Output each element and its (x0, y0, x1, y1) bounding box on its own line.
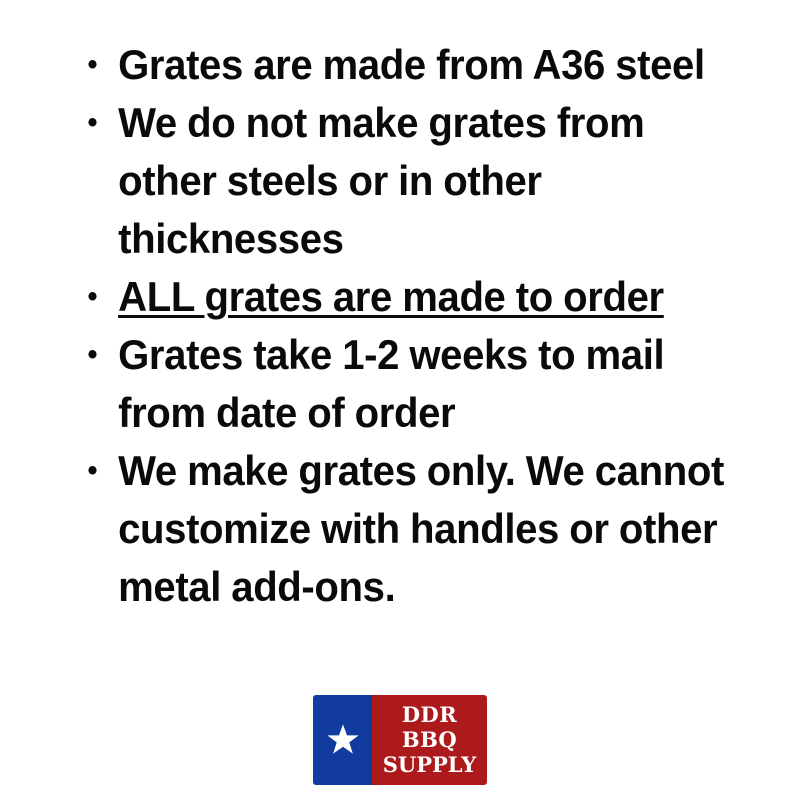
list-item: • Grates are made from A36 steel (78, 36, 727, 94)
bullet-icon: • (88, 442, 101, 500)
list-item: • Grates take 1-2 weeks to mail from dat… (78, 326, 727, 442)
list-item: • We do not make grates from other steel… (78, 94, 727, 268)
bullet-icon: • (88, 268, 101, 326)
policy-bullet-list: • Grates are made from A36 steel • We do… (78, 36, 758, 616)
logo-text-line-1: DDR (402, 702, 457, 727)
logo-text-line-2: BBQ (402, 727, 457, 752)
bullet-icon: • (88, 326, 101, 384)
list-item-text: We do not make grates from other steels … (118, 99, 644, 262)
star-icon (326, 723, 360, 757)
list-item: • We make grates only. We cannot customi… (78, 442, 727, 616)
info-card: • Grates are made from A36 steel • We do… (0, 0, 800, 800)
list-item-text: ALL grates are made to order (118, 273, 664, 320)
list-item-text: Grates take 1-2 weeks to mail from date … (118, 331, 664, 436)
bullet-icon: • (88, 94, 101, 152)
brand-logo: DDR BBQ SUPPLY (313, 695, 487, 785)
logo-red-panel: DDR BBQ SUPPLY (372, 695, 487, 785)
list-item-text: Grates are made from A36 steel (118, 41, 705, 88)
logo-blue-panel (313, 695, 372, 785)
list-item-text: We make grates only. We cannot customize… (118, 447, 724, 610)
bullet-icon: • (88, 36, 101, 94)
list-item-emphasized: • ALL grates are made to order (78, 268, 727, 326)
logo-text-line-3: SUPPLY (383, 752, 476, 777)
